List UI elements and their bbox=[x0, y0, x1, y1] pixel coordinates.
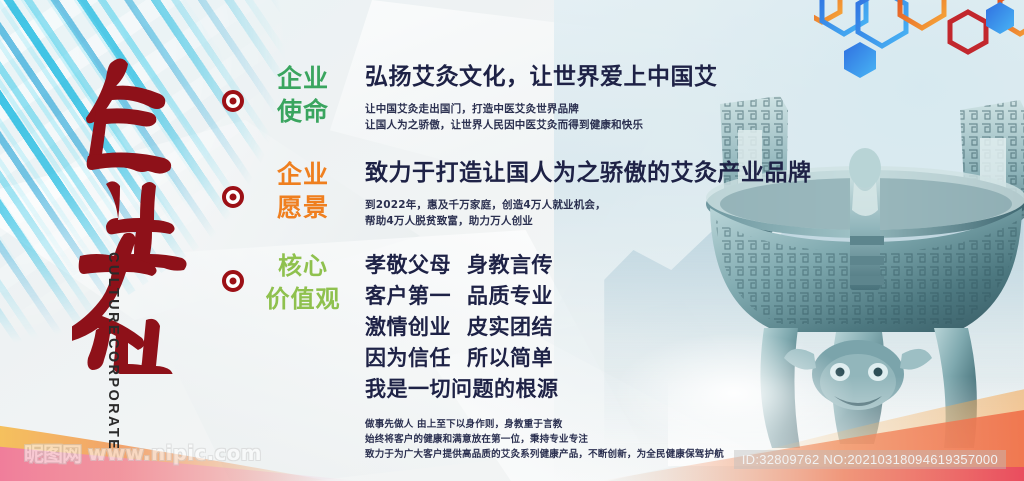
section-core-values: 核心 价值观 孝敬父母身教言传 客户第一品质专业 激情创业皮实团结 因为信任所以… bbox=[222, 250, 724, 462]
watermark-logo: 昵图网 bbox=[24, 438, 81, 467]
section-mission: 企业 使命 弘扬艾灸文化，让世界爱上中国艾 让中国艾灸走出国门，打造中医艾灸世界… bbox=[222, 62, 718, 133]
core-value-row: 因为信任所以简单 bbox=[365, 343, 724, 374]
core-value-row: 我是一切问题的根源 bbox=[365, 374, 724, 405]
section-vision: 企业 愿景 致力于打造让国人为之骄傲的艾灸产业品牌 到2022年，惠及千万家庭，… bbox=[222, 158, 812, 229]
section-tag-core-values: 核心 价值观 bbox=[265, 250, 341, 316]
tag-line-1: 企业 bbox=[265, 158, 341, 191]
core-value-right: 品质专业 bbox=[467, 284, 553, 308]
watermark: 昵图网 www.nipic.com bbox=[24, 438, 262, 467]
core-value-left: 客户第一 bbox=[365, 284, 451, 308]
subline-row: 帮助4万人脱贫致富，助力万人创业 bbox=[365, 213, 812, 229]
section-headline: 致力于打造让国人为之骄傲的艾灸产业品牌 bbox=[365, 158, 812, 188]
core-value-left: 激情创业 bbox=[365, 315, 451, 339]
section-body: 致力于打造让国人为之骄傲的艾灸产业品牌 到2022年，惠及千万家庭，创造4万人就… bbox=[365, 158, 812, 229]
target-bullseye-icon bbox=[222, 186, 244, 208]
section-tag-mission: 企业 使命 bbox=[265, 62, 341, 128]
section-subline: 到2022年，惠及千万家庭，创造4万人就业机会， 帮助4万人脱贫致富，助力万人创… bbox=[365, 197, 812, 229]
subline-row: 让国人为之骄傲，让世界人民因中医艾灸而得到健康和快乐 bbox=[365, 117, 718, 133]
subline-row: 让中国艾灸走出国门，打造中医艾灸世界品牌 bbox=[365, 101, 718, 117]
core-values-list: 孝敬父母身教言传 客户第一品质专业 激情创业皮实团结 因为信任所以简单 我是一切… bbox=[365, 250, 724, 462]
core-value-right: 皮实团结 bbox=[467, 315, 553, 339]
target-bullseye-icon bbox=[222, 90, 244, 112]
section-headline: 弘扬艾灸文化，让世界爱上中国艾 bbox=[365, 62, 718, 92]
core-value-left: 因为信任 bbox=[365, 346, 451, 370]
english-title-line1: CULTURE bbox=[105, 252, 120, 337]
core-values-note-row: 做事先做人 由上至下以身作则，身教重于言教 bbox=[365, 417, 724, 432]
tag-line-1: 企业 bbox=[265, 62, 341, 95]
section-subline: 让中国艾灸走出国门，打造中医艾灸世界品牌 让国人为之骄傲，让世界人民因中医艾灸而… bbox=[365, 101, 718, 133]
watermark-url: www.nipic.com bbox=[88, 441, 262, 465]
tag-line-2: 愿景 bbox=[265, 191, 341, 224]
poster-canvas: CULTURE CORPORATE 企业 使命 弘扬艾灸文化，让世界爱上中国艾 … bbox=[0, 0, 1024, 481]
tag-line-1: 核心 bbox=[265, 250, 341, 283]
core-value-right: 身教言传 bbox=[467, 253, 553, 277]
section-body: 弘扬艾灸文化，让世界爱上中国艾 让中国艾灸走出国门，打造中医艾灸世界品牌 让国人… bbox=[365, 62, 718, 133]
tag-line-2: 使命 bbox=[265, 95, 341, 128]
vertical-calligraphy-title bbox=[72, 44, 192, 374]
core-value-left: 我是一切问题的根源 bbox=[365, 377, 559, 401]
tag-line-2: 价值观 bbox=[265, 283, 341, 316]
target-bullseye-icon bbox=[222, 270, 244, 292]
core-value-left: 孝敬父母 bbox=[365, 253, 451, 277]
core-value-row: 激情创业皮实团结 bbox=[365, 312, 724, 343]
core-values-notes: 做事先做人 由上至下以身作则，身教重于言教 始终将客户的健康和满意放在第一位，秉… bbox=[365, 417, 724, 462]
section-tag-vision: 企业 愿景 bbox=[265, 158, 341, 224]
core-value-row: 客户第一品质专业 bbox=[365, 281, 724, 312]
core-value-right: 所以简单 bbox=[467, 346, 553, 370]
hexagon-cluster bbox=[814, 0, 1024, 80]
image-id-label: ID:32809762 NO:20210318094619357000 bbox=[734, 450, 1006, 469]
core-value-row: 孝敬父母身教言传 bbox=[365, 250, 724, 281]
english-title-line2: CORPORATE bbox=[105, 338, 120, 451]
subline-row: 到2022年，惠及千万家庭，创造4万人就业机会， bbox=[365, 197, 812, 213]
english-title-vertical: CULTURE CORPORATE bbox=[105, 252, 120, 451]
core-values-note-row: 始终将客户的健康和满意放在第一位，秉持专业专注 bbox=[365, 432, 724, 447]
core-values-note-row: 致力于为广大客户提供高品质的艾灸系列健康产品，不断创新，为全民健康保驾护航 bbox=[365, 447, 724, 462]
